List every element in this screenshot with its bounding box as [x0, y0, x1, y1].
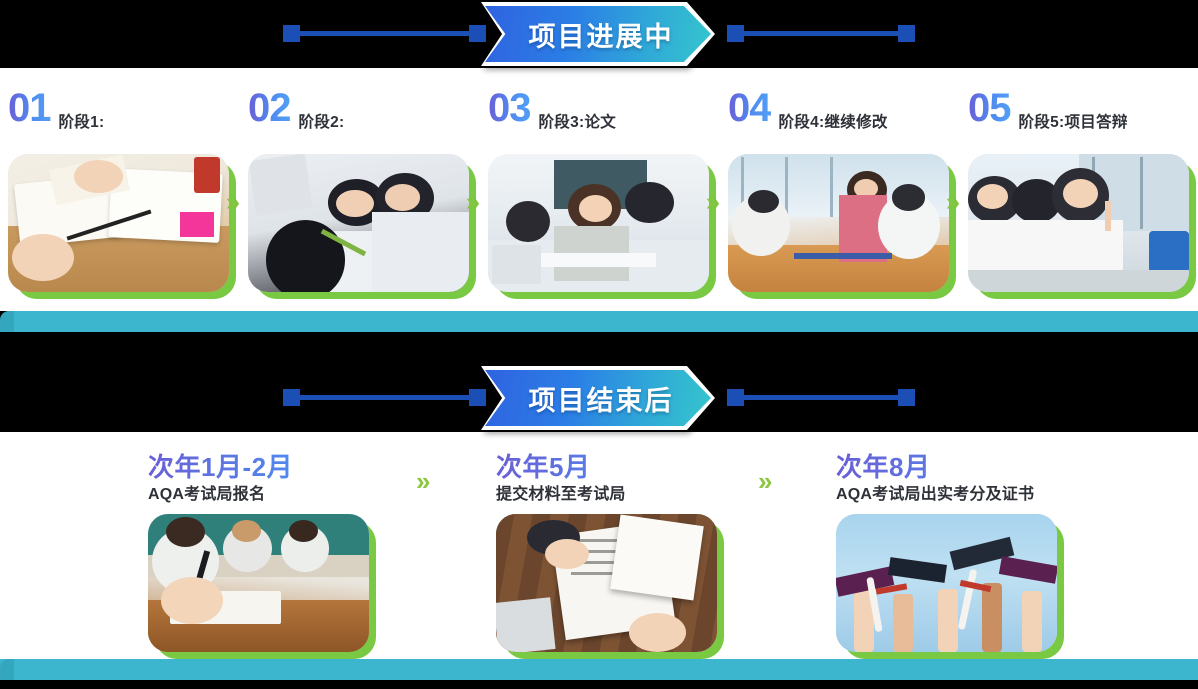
stage-04[interactable]: 04 阶段4:继续修改 论文至终稿 [720, 88, 956, 310]
photo-art-teacher-with-students [728, 154, 949, 292]
stage-03-title: 阶段3:论文 [539, 114, 617, 131]
banner-rule-left [283, 395, 486, 400]
milestone-1-title: 次年1月-2月 [148, 452, 448, 482]
milestone-1-subtitle: AQA考试局报名 [148, 484, 448, 506]
milestone-3-title: 次年8月 [836, 452, 1196, 482]
stage-01-card[interactable] [8, 154, 236, 299]
stage-01-photo [8, 154, 229, 292]
stage-05-card[interactable] [968, 154, 1196, 299]
stage-05-photo [968, 154, 1189, 292]
stage-02-title: 阶段2: [299, 114, 345, 131]
rule-cap-right [898, 25, 915, 42]
stage-arrow-4-icon: » [946, 190, 956, 215]
milestone-1-photo [148, 514, 369, 652]
stage-02-photo [248, 154, 469, 292]
progress-banner-ribbon: 项目进展中 [481, 2, 715, 66]
stage-03-number: 03 [488, 88, 531, 128]
stage-04-head: 04 阶段4:继续修改 论文至终稿 [720, 88, 956, 150]
after-banner-row: 项目结束后 [0, 364, 1198, 432]
stage-02-head: 02 阶段2: 制定论文大纲 [240, 88, 476, 150]
photo-art-submitting-documents [496, 514, 717, 652]
stage-01-head: 01 阶段1: 选题与研究计划 [0, 88, 236, 150]
milestone-arrow-2-icon: » [758, 468, 767, 494]
photo-art-students-group-work [248, 154, 469, 292]
photo-art-classroom-study [488, 154, 709, 292]
stage-03-head: 03 阶段3:论文 初稿与中期回顾 [480, 88, 716, 150]
stage-03-card[interactable] [488, 154, 716, 299]
stage-04-card[interactable] [728, 154, 956, 299]
stage-04-photo [728, 154, 949, 292]
milestone-3[interactable]: 次年8月 AQA考试局出实考分及证书 [836, 452, 1196, 506]
milestone-3-photo [836, 514, 1057, 652]
milestone-row: 次年1月-2月 AQA考试局报名 [0, 452, 1198, 680]
stage-05-title: 阶段5:项目答辩 [1019, 114, 1128, 131]
milestone-3-card[interactable] [836, 514, 1064, 659]
stage-row: 01 阶段1: 选题与研究计划 [0, 88, 1198, 310]
banner-rule-right [727, 395, 915, 400]
photo-art-students-raising-hands [968, 154, 1189, 292]
stage-02-card[interactable] [248, 154, 476, 299]
rule-cap-left [283, 389, 300, 406]
stage-02[interactable]: 02 阶段2: 制定论文大纲 [240, 88, 476, 310]
stage-05-head: 05 阶段5:项目答辩 和反思回顾 [960, 88, 1196, 150]
milestone-2-photo [496, 514, 717, 652]
stage-01-number: 01 [8, 88, 51, 128]
banner-rule-right [727, 31, 915, 36]
milestone-arrow-1-icon: » [416, 468, 425, 494]
rule-cap-left [283, 25, 300, 42]
milestone-3-subtitle: AQA考试局出实考分及证书 [836, 484, 1196, 506]
milestone-2-subtitle: 提交材料至考试局 [496, 484, 796, 506]
stage-05[interactable]: 05 阶段5:项目答辩 和反思回顾 [960, 88, 1196, 310]
stage-arrow-3-icon: » [706, 190, 716, 215]
after-banner-ribbon: 项目结束后 [481, 366, 715, 430]
milestone-1[interactable]: 次年1月-2月 AQA考试局报名 [148, 452, 448, 506]
stage-02-number: 02 [248, 88, 291, 128]
milestone-2[interactable]: 次年5月 提交材料至考试局 [496, 452, 796, 506]
progress-banner-row: 项目进展中 [0, 0, 1198, 68]
stage-04-title: 阶段4:继续修改 [779, 114, 888, 131]
stage-03[interactable]: 03 阶段3:论文 初稿与中期回顾 [480, 88, 716, 310]
rule-cap-left [727, 25, 744, 42]
stage-arrow-1-icon: » [226, 190, 236, 215]
rule-cap-right [898, 389, 915, 406]
stage-01[interactable]: 01 阶段1: 选题与研究计划 [0, 88, 236, 310]
stage-01-title: 阶段1: [59, 114, 105, 131]
milestone-1-card[interactable] [148, 514, 376, 659]
rule-cap-left [727, 389, 744, 406]
photo-art-graduation-caps [836, 514, 1057, 652]
stage-04-number: 04 [728, 88, 771, 128]
stage-03-photo [488, 154, 709, 292]
stage-arrow-2-icon: » [466, 190, 476, 215]
stage-05-number: 05 [968, 88, 1011, 128]
milestone-2-title: 次年5月 [496, 452, 796, 482]
photo-art-exam-writing [148, 514, 369, 652]
section-divider-band [0, 311, 1198, 332]
milestone-2-card[interactable] [496, 514, 724, 659]
after-banner-label: 项目结束后 [481, 366, 715, 430]
progress-banner-label: 项目进展中 [481, 2, 715, 66]
photo-art-students-reading-books [8, 154, 229, 292]
banner-rule-left [283, 31, 486, 36]
